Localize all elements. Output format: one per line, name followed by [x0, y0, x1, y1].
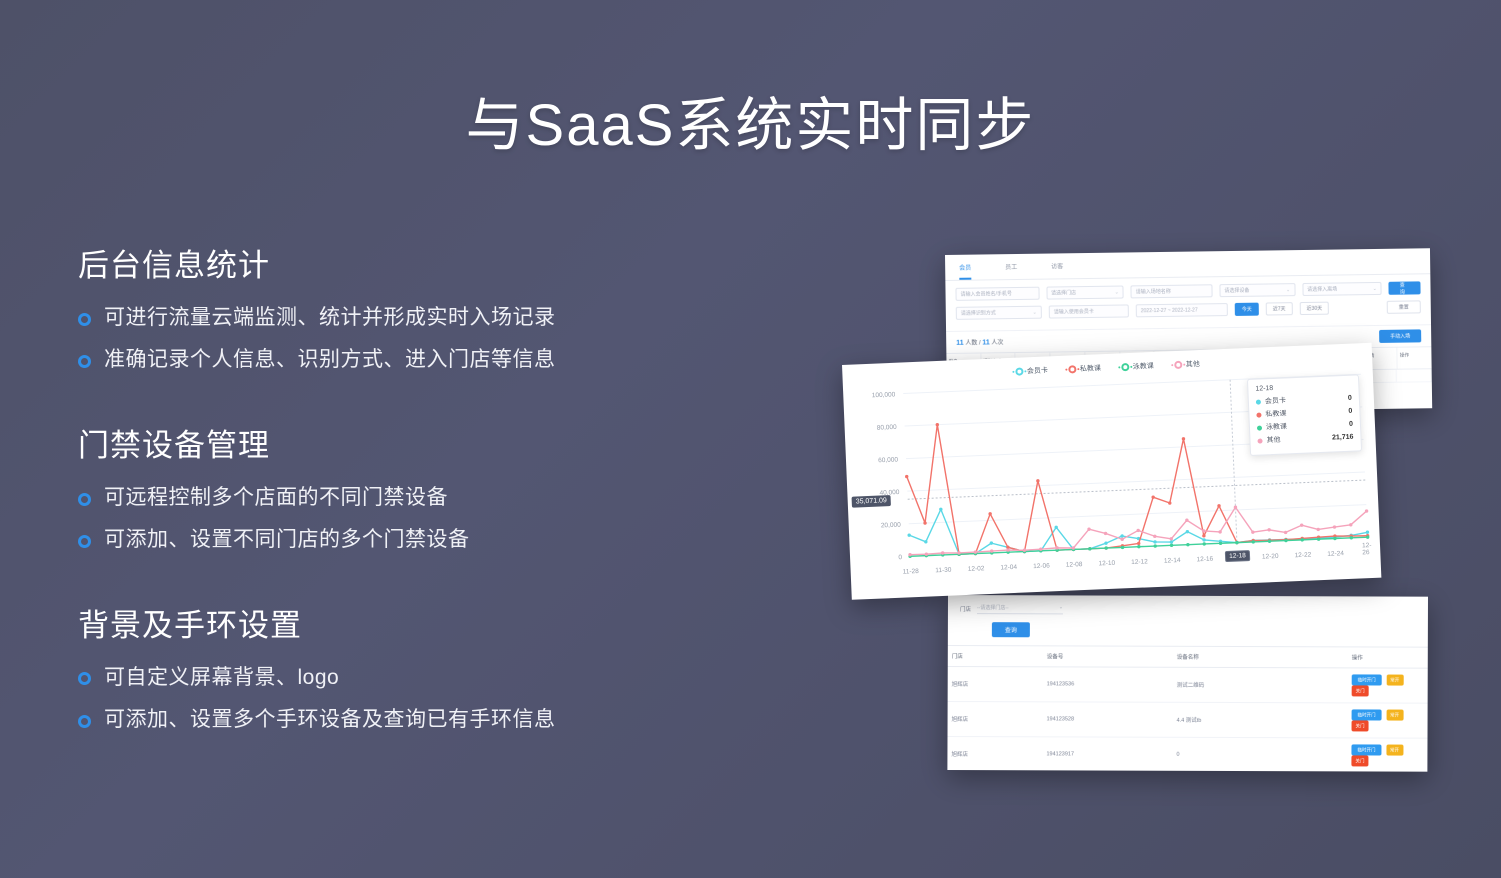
tooltip-series-name: 私教课 — [1265, 406, 1348, 419]
column-header: 设备号 — [1043, 646, 1173, 666]
x-axis-tick-label: 11-30 — [935, 567, 951, 575]
series-color-dot — [1257, 438, 1262, 443]
device-no-cell: 194123536 — [1043, 675, 1173, 693]
query-button[interactable]: 查询 — [1389, 281, 1421, 294]
range-30days-button[interactable]: 近30天 — [1299, 302, 1329, 315]
feature-heading: 门禁设备管理 — [78, 420, 738, 465]
series-color-dot — [1257, 425, 1262, 430]
bullet-text: 准确记录个人信息、识别方式、进入门店等信息 — [104, 345, 556, 375]
date-range-input[interactable]: 2022-12-27 ~ 2022-12-27 — [1136, 303, 1228, 317]
always-open-button[interactable]: 常开 — [1386, 675, 1403, 686]
series-color-dot — [1256, 412, 1261, 417]
bullet-circle-icon — [78, 535, 91, 548]
bullet-circle-icon — [78, 355, 91, 368]
legend-marker-icon — [1121, 363, 1129, 371]
tooltip-row: 私教课 0 — [1256, 406, 1352, 420]
input-placeholder: 请输入使用会员卡 — [1054, 308, 1094, 316]
membership-card-input[interactable]: 请输入使用会员卡 — [1049, 304, 1129, 318]
legend-label: 私教课 — [1080, 363, 1101, 374]
input-placeholder: 请输入场地名称 — [1136, 288, 1171, 295]
action-cell: 临时开门 常开 关门 — [1347, 738, 1427, 771]
people-count-unit: 人数 / — [965, 341, 980, 347]
device-no-cell: 194123528 — [1043, 710, 1173, 728]
manual-entry-button[interactable]: 手动入场 — [1379, 329, 1421, 343]
device-management-panel: 门店 --请选择门店-- ⌄ 查询 门店 设备号 设备名称 操作 旭辉店 194… — [947, 595, 1428, 772]
device-filter-row: 门店 --请选择门店-- ⌄ — [948, 595, 1428, 622]
store-cell: 旭辉店 — [948, 674, 1043, 694]
svg-text:100,000: 100,000 — [872, 391, 896, 399]
x-axis-tick-label: 11-28 — [903, 568, 919, 576]
list-item: 可进行流量云端监测、统计并形成实时入场记录 — [78, 303, 738, 333]
list-item: 可添加、设置多个手环设备及查询已有手环信息 — [78, 705, 738, 735]
entry-trend-chart-panel: 会员卡私教课泳教课其他 020,00040,00060,00080,000100… — [842, 343, 1381, 600]
store-cell: 旭辉店 — [947, 744, 1042, 764]
input-placeholder: 请选择入离场 — [1307, 286, 1337, 293]
axis-marker-label: 35,071.09 — [852, 495, 892, 508]
feature-block-2: 门禁设备管理 可远程控制多个店面的不同门禁设备 可添加、设置不同门店的多个门禁设… — [78, 420, 738, 556]
x-axis-tick-label: 12-18 — [1225, 550, 1250, 562]
device-name-cell: 测试二维码 — [1173, 675, 1348, 696]
tooltip-series-value: 0 — [1348, 407, 1352, 414]
member-name-input[interactable]: 请输入会员姓名/手机号 — [955, 287, 1039, 301]
tooltip-series-name: 其他 — [1266, 433, 1332, 446]
table-row[interactable]: 旭辉店 194123536 测试二维码 临时开门 常开 关门 — [948, 667, 1428, 704]
tab-staff[interactable]: 员工 — [1005, 262, 1017, 279]
visits-count-value: 11 — [982, 339, 990, 346]
store-filter-select[interactable]: --请选择门店-- ⌄ — [977, 604, 1063, 614]
input-placeholder: 请输入会员姓名/手机号 — [961, 290, 1012, 298]
x-axis-tick-label: 12-16 — [1196, 556, 1213, 564]
visits-count-unit: 人次 — [991, 340, 1003, 346]
svg-text:60,000: 60,000 — [878, 456, 899, 464]
always-open-button[interactable]: 常开 — [1386, 745, 1403, 756]
admin-filter-area: 请输入会员姓名/手机号 请选择门店 ⌄ 请输入场地名称 请选择设备 ⌄ 请选择入… — [945, 274, 1431, 331]
tooltip-series-value: 0 — [1349, 420, 1353, 427]
device-name-cell: 0 — [1172, 746, 1347, 765]
tooltip-row: 会员卡 0 — [1256, 393, 1352, 407]
x-axis-tick-label: 12-10 — [1098, 560, 1115, 568]
action-cell: 临时开门 常开 关门 — [1348, 668, 1428, 702]
close-door-button[interactable]: 关门 — [1352, 720, 1369, 731]
tooltip-row: 泳教课 0 — [1257, 419, 1353, 433]
store-cell: 旭辉店 — [948, 709, 1043, 729]
feature-heading: 背景及手环设置 — [78, 600, 738, 645]
chevron-down-icon: ⌄ — [1033, 309, 1037, 315]
chevron-down-icon: ⌄ — [1115, 289, 1119, 295]
bullet-text: 可自定义屏幕背景、logo — [104, 663, 339, 693]
legend-item[interactable]: 会员卡 — [1015, 365, 1048, 376]
date-range-value: 2022-12-27 ~ 2022-12-27 — [1141, 307, 1198, 314]
input-placeholder: 请选择门店 — [1051, 289, 1076, 296]
column-header: 操作 — [1348, 647, 1428, 667]
list-item: 可自定义屏幕背景、logo — [78, 663, 738, 693]
chevron-down-icon: ⌄ — [1286, 287, 1290, 293]
tooltip-series-name: 泳教课 — [1266, 419, 1349, 432]
svg-text:20,000: 20,000 — [881, 522, 902, 530]
entry-exit-select[interactable]: 请选择入离场 ⌄ — [1302, 282, 1382, 296]
input-placeholder: 请选择识别方式 — [961, 309, 996, 316]
tooltip-series-value: 0 — [1348, 394, 1352, 401]
page-title: 与SaaS系统实时同步 — [0, 78, 1501, 162]
bullet-text: 可添加、设置不同门店的多个门禁设备 — [104, 525, 470, 555]
select-placeholder: --请选择门店-- — [977, 604, 1009, 611]
column-header: 门店 — [948, 646, 1043, 666]
feature-list: 后台信息统计 可进行流量云端监测、统计并形成实时入场记录 准确记录个人信息、识别… — [78, 240, 738, 748]
column-header: 操作 — [1398, 347, 1432, 369]
reset-button[interactable]: 重置 — [1387, 300, 1421, 313]
list-item: 准确记录个人信息、识别方式、进入门店等信息 — [78, 345, 738, 375]
tooltip-row: 其他 21,716 — [1257, 432, 1353, 446]
legend-marker-icon — [1174, 361, 1182, 369]
x-axis-tick-label: 12-26 — [1362, 542, 1375, 556]
x-axis-tick-label: 12-20 — [1262, 553, 1279, 561]
tooltip-date: 12-18 — [1255, 382, 1351, 393]
legend-item[interactable]: 其他 — [1174, 359, 1200, 370]
list-item: 可添加、设置不同门店的多个门禁设备 — [78, 525, 738, 555]
store-select[interactable]: 请选择门店 ⌄ — [1046, 286, 1124, 300]
bullet-circle-icon — [78, 715, 91, 728]
device-search-button[interactable]: 查询 — [992, 622, 1030, 637]
x-axis-tick-label: 12-06 — [1033, 562, 1050, 570]
people-count-value: 11 — [956, 340, 964, 347]
device-name-cell: 4.4 测试tb — [1173, 710, 1348, 731]
tab-visitors[interactable]: 访客 — [1051, 261, 1063, 278]
legend-marker-icon — [1068, 365, 1076, 373]
screenshot-mockup-cluster: 会员 员工 访客 请输入会员姓名/手机号 请选择门店 ⌄ 请输入场地名称 请选择… — [820, 240, 1460, 800]
column-header: 设备名称 — [1173, 647, 1348, 668]
x-axis-tick-label: 12-12 — [1131, 558, 1148, 566]
chart-tooltip: 12-18 会员卡 0 私教课 0 泳教课 0 — [1247, 374, 1362, 456]
always-open-button[interactable]: 常开 — [1386, 710, 1403, 721]
feature-heading: 后台信息统计 — [78, 240, 738, 285]
chevron-down-icon: ⌄ — [1373, 285, 1377, 291]
filter-row-1: 请输入会员姓名/手机号 请选择门店 ⌄ 请输入场地名称 请选择设备 ⌄ 请选择入… — [955, 281, 1420, 300]
legend-marker-icon — [1015, 367, 1023, 375]
bullet-text: 可远程控制多个店面的不同门禁设备 — [104, 483, 448, 513]
chart-plot-area: 020,00040,00060,00080,000100,000 12-18 会… — [843, 364, 1381, 581]
x-axis-tick-label: 12-14 — [1164, 557, 1181, 565]
legend-item[interactable]: 泳教课 — [1121, 361, 1154, 372]
temp-open-door-button[interactable]: 临时开门 — [1352, 674, 1382, 685]
bullet-text: 可添加、设置多个手环设备及查询已有手环信息 — [104, 705, 556, 735]
legend-item[interactable]: 私教课 — [1068, 363, 1101, 374]
bullet-circle-icon — [78, 672, 91, 685]
close-door-button[interactable]: 关门 — [1352, 685, 1369, 696]
bullet-circle-icon — [78, 493, 91, 506]
venue-name-input[interactable]: 请输入场地名称 — [1131, 284, 1213, 298]
x-axis-tick-label: 12-02 — [968, 565, 985, 573]
action-cell: 临时开门 常开 关门 — [1348, 703, 1428, 737]
bullet-circle-icon — [78, 313, 91, 326]
x-axis-tick-label: 12-22 — [1294, 552, 1311, 560]
table-row[interactable]: 旭辉店 194123528 4.4 测试tb 临时开门 常开 关门 — [948, 702, 1428, 739]
feature-block-3: 背景及手环设置 可自定义屏幕背景、logo 可添加、设置多个手环设备及查询已有手… — [78, 600, 738, 736]
store-filter-label: 门店 — [960, 605, 971, 613]
x-axis-tick-label: 12-04 — [1000, 564, 1017, 572]
tooltip-series-name: 会员卡 — [1265, 393, 1348, 406]
device-no-cell: 194123917 — [1042, 745, 1172, 763]
tab-members[interactable]: 会员 — [959, 263, 971, 280]
series-color-dot — [1256, 399, 1261, 404]
svg-text:0: 0 — [898, 554, 902, 561]
close-door-button[interactable]: 关门 — [1351, 755, 1368, 766]
legend-label: 其他 — [1186, 359, 1200, 370]
filter-row-2: 请选择识别方式 ⌄ 请输入使用会员卡 2022-12-27 ~ 2022-12-… — [956, 300, 1421, 319]
list-item: 可远程控制多个店面的不同门禁设备 — [78, 483, 738, 513]
x-axis-tick-label: 12-08 — [1066, 561, 1083, 569]
svg-text:80,000: 80,000 — [877, 424, 898, 432]
device-select[interactable]: 请选择设备 ⌄ — [1219, 283, 1295, 297]
feature-block-1: 后台信息统计 可进行流量云端监测、统计并形成实时入场记录 准确记录个人信息、识别… — [78, 240, 738, 376]
table-row[interactable]: 旭辉店 194123917 0 临时开门 常开 关门 — [947, 737, 1427, 772]
legend-label: 泳教课 — [1133, 361, 1154, 372]
x-axis-tick-label: 12-24 — [1327, 550, 1344, 558]
temp-open-door-button[interactable]: 临时开门 — [1351, 744, 1381, 755]
tooltip-series-value: 21,716 — [1332, 433, 1354, 441]
range-today-button[interactable]: 今天 — [1235, 303, 1259, 316]
range-7days-button[interactable]: 近7天 — [1266, 302, 1293, 315]
bullet-text: 可进行流量云端监测、统计并形成实时入场记录 — [104, 303, 556, 333]
recognition-method-select[interactable]: 请选择识别方式 ⌄ — [956, 306, 1042, 320]
input-placeholder: 请选择设备 — [1224, 287, 1249, 294]
chevron-down-icon: ⌄ — [1059, 604, 1063, 611]
legend-label: 会员卡 — [1027, 365, 1048, 376]
device-table-header: 门店 设备号 设备名称 操作 — [948, 645, 1428, 669]
attendance-count: 11 人数 / 11 人次 — [956, 337, 1003, 347]
temp-open-door-button[interactable]: 临时开门 — [1352, 709, 1382, 720]
